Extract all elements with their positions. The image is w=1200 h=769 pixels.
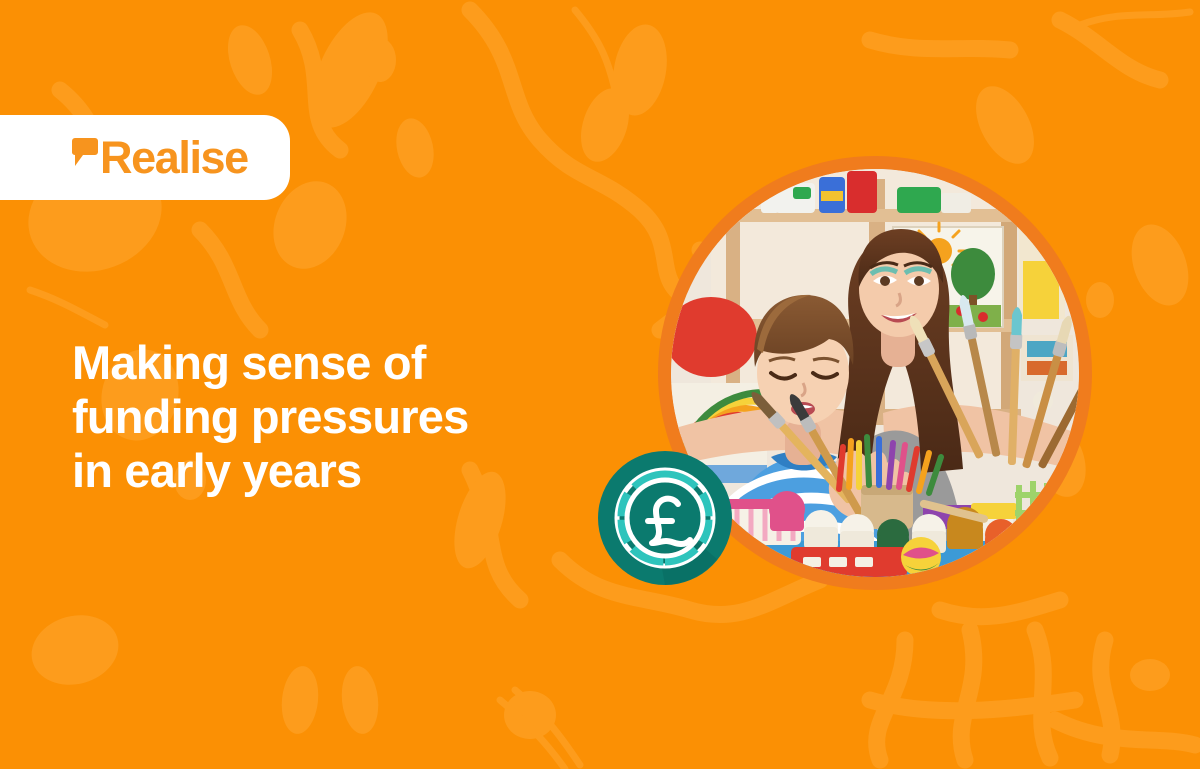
promo-banner: Realise Making sense of funding pressure…	[0, 0, 1200, 769]
logo-lockup: Realise	[72, 135, 248, 180]
speech-bubble-icon	[72, 137, 98, 172]
hero-photo	[671, 169, 1079, 577]
brand-logo-card[interactable]: Realise	[0, 115, 290, 200]
headline-line-3: in early years	[72, 444, 592, 498]
brand-wordmark: Realise	[100, 135, 248, 180]
pound-coin-badge	[598, 451, 732, 585]
page-title: Making sense of funding pressures in ear…	[72, 336, 592, 498]
headline-line-2: funding pressures	[72, 390, 592, 444]
headline-line-1: Making sense of	[72, 336, 592, 390]
